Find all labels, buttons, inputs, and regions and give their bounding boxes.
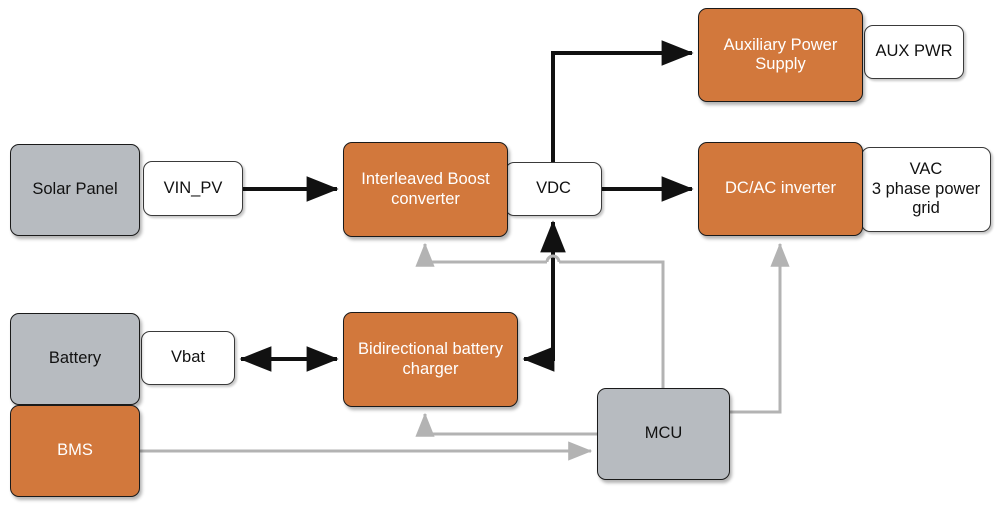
block-solar-panel-label: Solar Panel bbox=[11, 180, 139, 199]
block-dc-ac-inverter-label: DC/AC inverter bbox=[699, 179, 862, 198]
signal-tag-vin-pv[interactable]: VIN_PV bbox=[143, 161, 243, 216]
block-diagram-canvas: VIN_PV VDC AUX PWR VAC 3 phase power gri… bbox=[0, 0, 1000, 505]
wire-mcu-to-inverter bbox=[730, 244, 780, 412]
block-interleaved-boost-converter-label: Interleaved Boost converter bbox=[344, 170, 507, 209]
signal-tag-vac[interactable]: VAC 3 phase power grid bbox=[861, 147, 991, 232]
signal-tag-vdc[interactable]: VDC bbox=[505, 162, 602, 216]
block-bidirectional-battery-charger-label: Bidirectional battery charger bbox=[344, 340, 517, 379]
block-bidirectional-battery-charger[interactable]: Bidirectional battery charger bbox=[343, 312, 518, 407]
signal-tag-vac-label: VAC 3 phase power grid bbox=[862, 160, 990, 218]
signal-tag-aux-pwr-label: AUX PWR bbox=[865, 42, 963, 61]
block-mcu[interactable]: MCU bbox=[597, 388, 730, 480]
wire-mcu-to-boost-hop bbox=[547, 256, 559, 262]
wire-vdc-to-aux-supply bbox=[553, 53, 692, 162]
block-battery-label: Battery bbox=[11, 349, 139, 368]
block-bms[interactable]: BMS bbox=[10, 405, 140, 497]
block-interleaved-boost-converter[interactable]: Interleaved Boost converter bbox=[343, 142, 508, 237]
block-auxiliary-power-supply-label: Auxiliary Power Supply bbox=[699, 36, 862, 75]
signal-tag-vbat[interactable]: Vbat bbox=[141, 331, 235, 385]
wire-mcu-to-charger bbox=[425, 414, 597, 434]
signal-tag-vin-pv-label: VIN_PV bbox=[144, 179, 242, 198]
block-solar-panel[interactable]: Solar Panel bbox=[10, 144, 140, 236]
wire-charger-to-vdc bbox=[524, 222, 553, 359]
block-dc-ac-inverter[interactable]: DC/AC inverter bbox=[698, 142, 863, 236]
signal-tag-aux-pwr[interactable]: AUX PWR bbox=[864, 25, 964, 79]
block-bms-label: BMS bbox=[11, 441, 139, 460]
signal-tag-vdc-label: VDC bbox=[506, 179, 601, 198]
signal-tag-vbat-label: Vbat bbox=[142, 348, 234, 367]
block-auxiliary-power-supply[interactable]: Auxiliary Power Supply bbox=[698, 8, 863, 102]
wire-mcu-to-boost-tail bbox=[425, 244, 547, 262]
block-battery[interactable]: Battery bbox=[10, 313, 140, 405]
wire-mcu-to-boost bbox=[559, 262, 663, 388]
block-mcu-label: MCU bbox=[598, 424, 729, 443]
